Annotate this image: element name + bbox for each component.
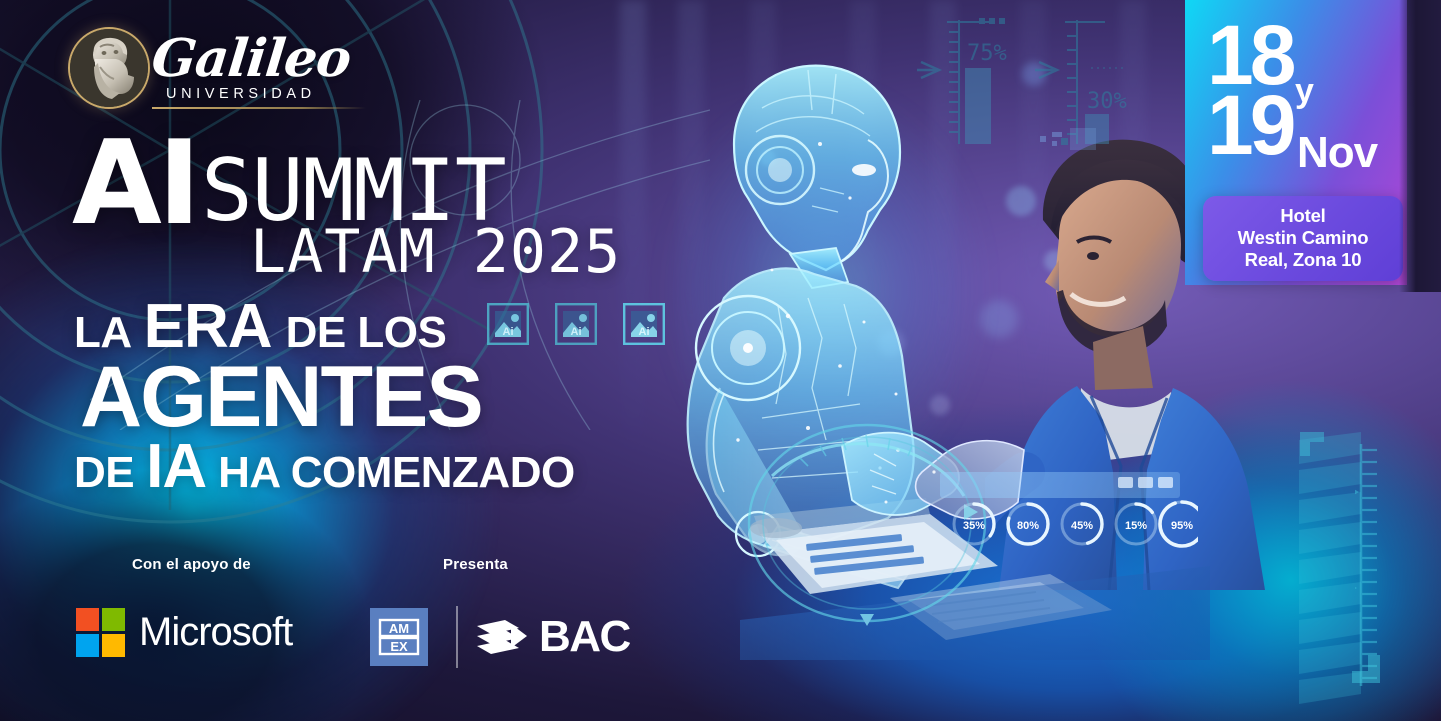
bac-mark-icon (475, 614, 529, 660)
microsoft-wordmark: Microsoft (139, 610, 292, 655)
event-title: AI SUMMIT LATAM 2025 (72, 136, 621, 287)
title-summit: SUMMIT (201, 156, 506, 227)
logo-divider-rule (152, 107, 366, 109)
event-banner: 75% 30% (0, 0, 1441, 721)
venue-line-2: Westin Camino (1209, 227, 1397, 249)
panel-right-edge-shadow (1399, 0, 1441, 292)
title-latam-year: LATAM 2025 (250, 217, 621, 287)
microsoft-squares-icon (76, 608, 125, 657)
support-label: Con el apoyo de (132, 556, 251, 573)
galileo-name: Galileo (149, 33, 353, 85)
sponsor-section: Con el apoyo de Presenta Microsoft AM EX (70, 556, 630, 686)
event-tagline: LA ERA DE LOS AGENTES DE IA HA COMENZADO (74, 296, 575, 498)
date-month: Nov (1297, 128, 1377, 178)
tagline-ha-comenzado: HA COMENZADO (218, 451, 575, 495)
microsoft-logo[interactable]: Microsoft (76, 608, 292, 657)
presents-label: Presenta (443, 556, 508, 573)
venue-line-1: Hotel (1209, 205, 1397, 227)
amex-line1: AM (389, 621, 409, 636)
date-day-2: 19 (1207, 90, 1292, 161)
title-ai: AI (72, 136, 197, 231)
amex-line2: EX (390, 639, 408, 654)
tagline-ia: IA (146, 436, 206, 498)
universidad-subtitle: UNIVERSIDAD (166, 86, 316, 102)
date-conjunction: y (1295, 72, 1314, 111)
galileo-university-logo[interactable]: Galileo UNIVERSIDAD (68, 27, 378, 112)
sponsor-divider (456, 606, 458, 668)
galileo-wordmark: Galileo (152, 33, 350, 85)
venue-line-3: Real, Zona 10 (1209, 249, 1397, 271)
tagline-de: DE (74, 451, 134, 495)
event-date-panel: 18 y 19 Nov Hotel Westin Camino Real, Zo… (1185, 0, 1407, 285)
amex-icon: AM EX (376, 614, 422, 660)
bac-logo[interactable]: BAC (475, 612, 630, 662)
tagline-agentes: AGENTES (80, 354, 482, 440)
bac-wordmark: BAC (539, 612, 630, 662)
amex-logo[interactable]: AM EX (370, 608, 428, 666)
venue-badge: Hotel Westin Camino Real, Zona 10 (1203, 196, 1403, 281)
galileo-bust-medallion-icon (68, 27, 150, 109)
